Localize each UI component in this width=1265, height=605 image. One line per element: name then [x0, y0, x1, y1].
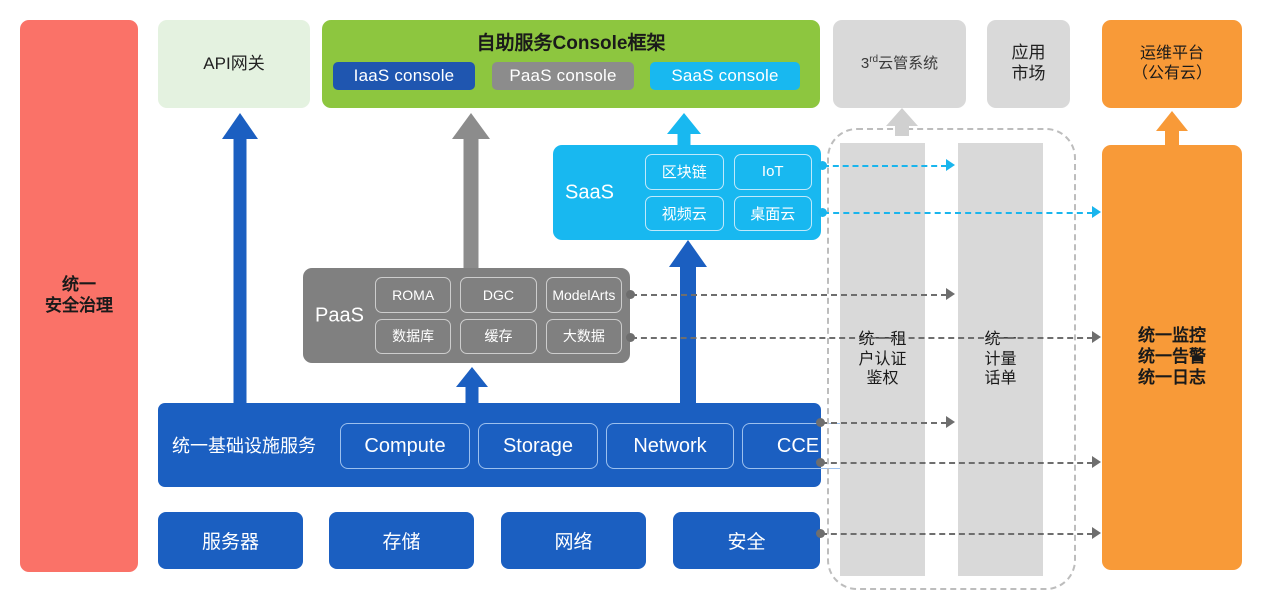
third-party-superscript: rd [869, 54, 878, 65]
connector-arrowhead-infra-2 [1092, 456, 1101, 468]
unified-tenant-auth-label: 统一租 户认证 鉴权 [858, 330, 906, 389]
paas-item-cache-label: 缓存 [484, 326, 512, 346]
app-market-box[interactable]: 应用 市场 [987, 20, 1070, 108]
paas-item-dgc-label: DGC [483, 287, 514, 303]
infra-item-cce-label: CCE [777, 435, 819, 458]
paas-item-dgc[interactable]: DGC [460, 277, 536, 313]
iaas-console-label: IaaS console [354, 66, 455, 86]
resource-server-label: 服务器 [202, 527, 259, 554]
infra-item-compute-label: Compute [364, 435, 445, 458]
paas-item-cache[interactable]: 缓存 [460, 319, 536, 355]
security-governance-label: 统一 安全治理 [45, 275, 113, 316]
ops-capability-label: 统一监控 统一告警 统一日志 [1138, 326, 1206, 388]
paas-item-roma[interactable]: ROMA [375, 277, 451, 313]
unified-metering-billing-column[interactable]: 统一 计量 话单 [958, 143, 1043, 576]
connector-paas-to-billing [631, 294, 947, 296]
resource-box-server[interactable]: 服务器 [158, 512, 303, 569]
resource-security-label: 安全 [727, 527, 765, 554]
connector-resources-to-ops [821, 533, 1093, 535]
paas-items-grid: ROMA DGC ModelArts 数据库 缓存 大数据 [375, 277, 622, 354]
resource-storage-label: 存储 [382, 527, 420, 554]
arrow-infra-to-api-gateway [222, 113, 258, 403]
paas-item-modelarts[interactable]: ModelArts [546, 277, 622, 313]
connector-saas-to-billing [823, 165, 947, 167]
saas-item-iot[interactable]: IoT [734, 154, 813, 190]
connector-infra-to-billing [821, 422, 947, 424]
paas-item-roma-label: ROMA [392, 287, 434, 303]
unified-tenant-auth-column[interactable]: 统一租 户认证 鉴权 [840, 143, 925, 576]
ops-platform-box[interactable]: 运维平台 （公有云） [1102, 20, 1242, 108]
saas-item-blockchain-label: 区块链 [662, 161, 707, 182]
saas-item-iot-label: IoT [762, 163, 784, 180]
connector-arrowhead-saas-2 [1092, 206, 1101, 218]
saas-block[interactable]: SaaS 区块链 IoT 视频云 桌面云 [553, 145, 821, 240]
paas-item-modelarts-label: ModelArts [552, 287, 615, 303]
architecture-diagram: 统一 安全治理 API网关 自助服务Console框架 IaaS console… [0, 0, 1265, 605]
unified-metering-billing-label: 统一 计量 话单 [984, 330, 1016, 389]
saas-console-chip[interactable]: SaaS console [650, 62, 800, 90]
resource-network-label: 网络 [554, 527, 592, 554]
resource-box-network[interactable]: 网络 [501, 512, 646, 569]
api-gateway-box[interactable]: API网关 [158, 20, 310, 108]
unified-infrastructure-bar[interactable]: 统一基础设施服务 Compute Storage Network CCE [158, 403, 821, 487]
paas-item-bigdata-label: 大数据 [563, 326, 605, 346]
saas-block-title: SaaS [565, 181, 614, 204]
saas-item-video-cloud[interactable]: 视频云 [645, 196, 724, 232]
saas-item-blockchain[interactable]: 区块链 [645, 154, 724, 190]
paas-item-database-label: 数据库 [392, 326, 434, 346]
arrow-infra-to-saas [669, 240, 707, 403]
third-party-cloud-management-box[interactable]: 3rd云管系统 [833, 20, 966, 108]
infra-item-compute[interactable]: Compute [340, 423, 470, 469]
third-party-suffix: 云管系统 [878, 55, 938, 72]
unified-infrastructure-title: 统一基础设施服务 [172, 432, 316, 458]
api-gateway-label: API网关 [203, 54, 264, 75]
connector-arrowhead-resources [1092, 527, 1101, 539]
infra-item-storage-label: Storage [503, 435, 573, 458]
iaas-console-chip[interactable]: IaaS console [333, 62, 475, 90]
infra-item-network-label: Network [633, 435, 706, 458]
paas-block-title: PaaS [315, 304, 364, 327]
connector-saas-to-ops [823, 212, 1093, 214]
saas-item-desktop-cloud[interactable]: 桌面云 [734, 196, 813, 232]
ops-capability-column[interactable]: 统一监控 统一告警 统一日志 [1102, 145, 1242, 570]
app-market-label: 应用 市场 [1012, 43, 1046, 84]
paas-item-bigdata[interactable]: 大数据 [546, 319, 622, 355]
paas-block[interactable]: PaaS ROMA DGC ModelArts 数据库 缓存 大数据 [303, 268, 630, 363]
infra-item-network[interactable]: Network [606, 423, 734, 469]
arrow-capability-to-third-cloud [886, 108, 918, 136]
connector-paas-to-ops [631, 337, 1093, 339]
paas-console-chip[interactable]: PaaS console [492, 62, 634, 90]
infra-item-storage[interactable]: Storage [478, 423, 598, 469]
connector-arrowhead-saas-1 [946, 159, 955, 171]
security-governance-panel[interactable]: 统一 安全治理 [20, 20, 138, 572]
third-party-prefix: 3 [861, 55, 869, 72]
self-service-console-framework[interactable]: 自助服务Console框架 IaaS console PaaS console … [322, 20, 820, 108]
arrow-infra-to-paas [456, 367, 488, 403]
resource-box-storage[interactable]: 存储 [329, 512, 474, 569]
ops-platform-label: 运维平台 （公有云） [1132, 44, 1212, 83]
arrow-saas-to-console [667, 113, 701, 145]
connector-infra-to-ops [821, 462, 1093, 464]
saas-items-grid: 区块链 IoT 视频云 桌面云 [645, 154, 812, 231]
arrow-capability-to-ops-platform [1156, 111, 1188, 147]
console-framework-title: 自助服务Console框架 [322, 28, 820, 55]
paas-item-database[interactable]: 数据库 [375, 319, 451, 355]
connector-arrowhead-infra-1 [946, 416, 955, 428]
saas-console-label: SaaS console [671, 66, 778, 86]
connector-arrowhead-paas-2 [1092, 331, 1101, 343]
connector-arrowhead-paas-1 [946, 288, 955, 300]
arrow-paas-to-console [452, 113, 490, 268]
saas-item-video-cloud-label: 视频云 [662, 203, 707, 224]
resource-box-security[interactable]: 安全 [673, 512, 820, 569]
third-party-cloud-label: 3rd云管系统 [861, 54, 938, 73]
paas-console-label: PaaS console [509, 66, 616, 86]
saas-item-desktop-cloud-label: 桌面云 [750, 203, 795, 224]
